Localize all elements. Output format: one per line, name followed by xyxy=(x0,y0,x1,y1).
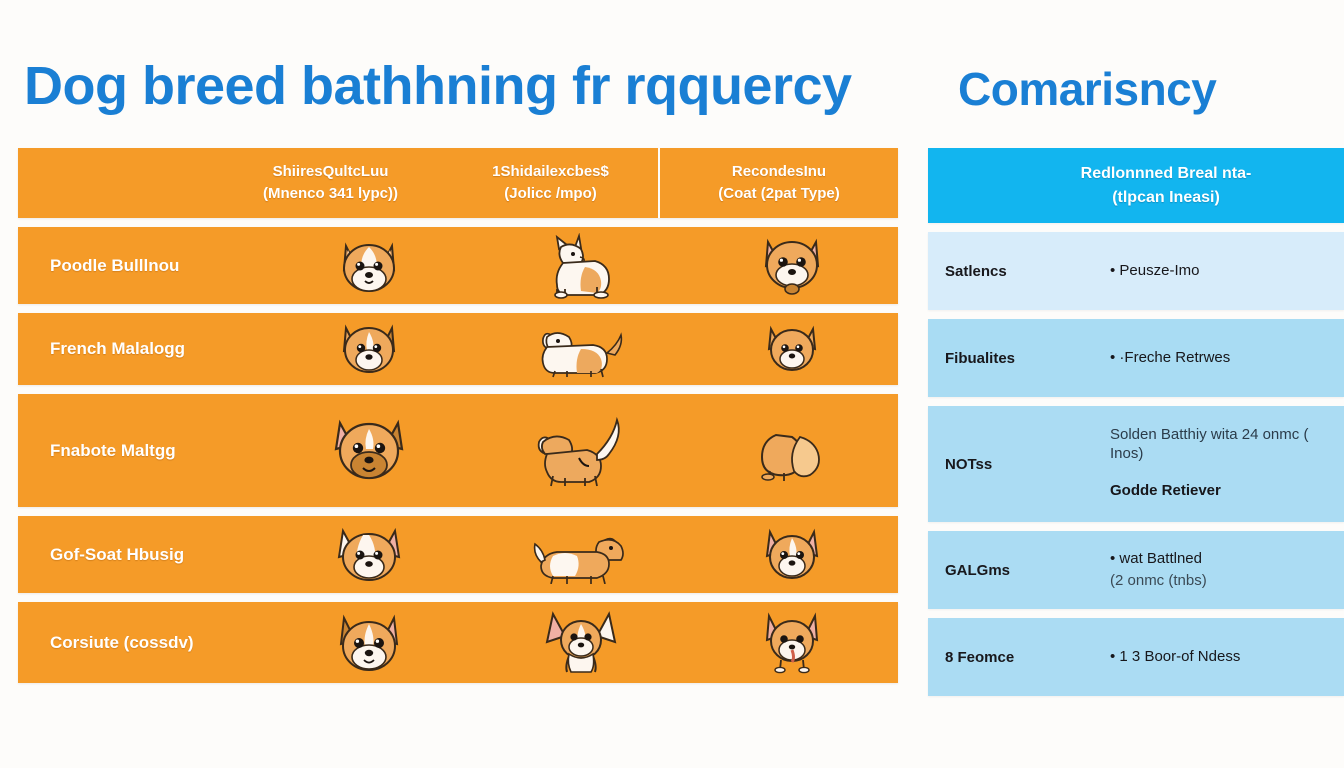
right-row-value: • 1 3 Boor-of Ndess xyxy=(1110,646,1344,669)
header-sub-3: (Coat (2pat Type) xyxy=(718,183,839,205)
row-label: Fnabote Maltgg xyxy=(18,441,263,461)
table-header-row: ShiiresQultcLuu (Mnenco 341 lypc)) 1Shid… xyxy=(18,148,898,218)
row-label: Corsiute (cossdv) xyxy=(18,633,263,653)
row-label: Gof-Soat Hbusig xyxy=(18,545,263,565)
dog-face-tan-icon xyxy=(263,236,475,296)
dog-body-spotted-icon xyxy=(475,526,687,584)
dog-face-tongue-icon xyxy=(686,612,898,674)
right-row-value-main: • wat Battlned xyxy=(1110,548,1334,571)
right-row-value: Solden Batthiy wita 24 onmc ( Inos) Godd… xyxy=(1110,426,1344,502)
table-row[interactable]: Poodle Bulllnou xyxy=(18,227,898,304)
right-row-value: • wat Battlned (2 onmc (tnbs) xyxy=(1110,548,1344,593)
right-row-value-top: Solden Batthiy wita 24 onmc ( Inos) xyxy=(1110,426,1334,464)
dog-face-flat-icon xyxy=(263,415,475,487)
dog-face-tan-icon xyxy=(263,612,475,674)
table-row[interactable]: French Malalogg xyxy=(18,313,898,385)
table-row[interactable]: Corsiute (cossdv) xyxy=(18,602,898,683)
right-panel-header: Redlonnned Breal nta- (tlpcan Ineasi) xyxy=(928,148,1344,223)
right-row-label: Satlencs xyxy=(928,263,1110,280)
right-row-label: GALGms xyxy=(928,562,1110,579)
list-item[interactable]: NOTss Solden Batthiy wita 24 onmc ( Inos… xyxy=(928,406,1344,522)
right-row-value: • Peusze-Imo xyxy=(1110,260,1344,283)
right-row-label: NOTss xyxy=(928,456,1110,473)
header-main-1: ShiiresQultcLuu xyxy=(273,161,389,183)
right-row-value-bottom: Godde Retiever xyxy=(1110,480,1334,503)
dog-face-small-icon xyxy=(686,321,898,377)
header-main-2: 1Shidailexcbes$ xyxy=(492,161,609,183)
dog-face-tan-icon xyxy=(263,320,475,378)
dog-walking-tan-icon xyxy=(475,414,687,488)
dog-big-ears-icon xyxy=(475,610,687,676)
header-cell-blank xyxy=(18,148,218,218)
dog-face-ears-icon xyxy=(263,525,475,585)
right-header-line2: (tlpcan Ineasi) xyxy=(1081,186,1252,209)
row-label: French Malalogg xyxy=(18,339,263,359)
table-row[interactable]: Gof-Soat Hbusig xyxy=(18,516,898,593)
dog-standing-tan-icon xyxy=(475,319,687,379)
list-item[interactable]: Satlencs • Peusze-Imo xyxy=(928,232,1344,310)
list-item[interactable]: 8 Feomce • 1 3 Boor-of Ndess xyxy=(928,618,1344,696)
table-row[interactable]: Fnabote Maltgg xyxy=(18,394,898,507)
header-cell-recondes: RecondesInu (Coat (2pat Type) xyxy=(658,148,898,218)
right-row-value-sub: (2 onmc (tnbs) xyxy=(1110,570,1334,593)
recommended-breeds-panel: Redlonnned Breal nta- (tlpcan Ineasi) Sa… xyxy=(928,148,1344,705)
header-sub-2: (Jolicc /mpo) xyxy=(504,183,597,205)
right-row-value: • ·Freche Retrwes xyxy=(1110,347,1344,370)
page-title-left: Dog breed bathhning fr rqquercy xyxy=(24,55,852,117)
header-cell-shidai: 1Shidailexcbes$ (Jolicc /mpo) xyxy=(443,148,658,218)
row-label: Poodle Bulllnou xyxy=(18,256,263,276)
dog-rear-tan-icon xyxy=(686,421,898,481)
header-sub-1: (Mnenco 341 lypc)) xyxy=(263,183,398,205)
dog-sitting-white-icon xyxy=(475,233,687,299)
header-cell-shires: ShiiresQultcLuu (Mnenco 341 lypc)) xyxy=(218,148,443,218)
bathing-frequency-table: ShiiresQultcLuu (Mnenco 341 lypc)) 1Shid… xyxy=(18,148,898,692)
right-row-label: Fibualites xyxy=(928,350,1110,367)
list-item[interactable]: GALGms • wat Battlned (2 onmc (tnbs) xyxy=(928,531,1344,609)
dog-face-bone-icon xyxy=(686,234,898,298)
dog-face-corgi-icon xyxy=(686,526,898,584)
page-title-right: Comarisncy xyxy=(958,62,1216,116)
header-main-3: RecondesInu xyxy=(732,161,826,183)
list-item[interactable]: Fibualites • ·Freche Retrwes xyxy=(928,319,1344,397)
right-row-label: 8 Feomce xyxy=(928,649,1110,666)
right-header-text: Redlonnned Breal nta- (tlpcan Ineasi) xyxy=(1021,162,1252,208)
right-header-line1: Redlonnned Breal nta- xyxy=(1081,162,1252,185)
